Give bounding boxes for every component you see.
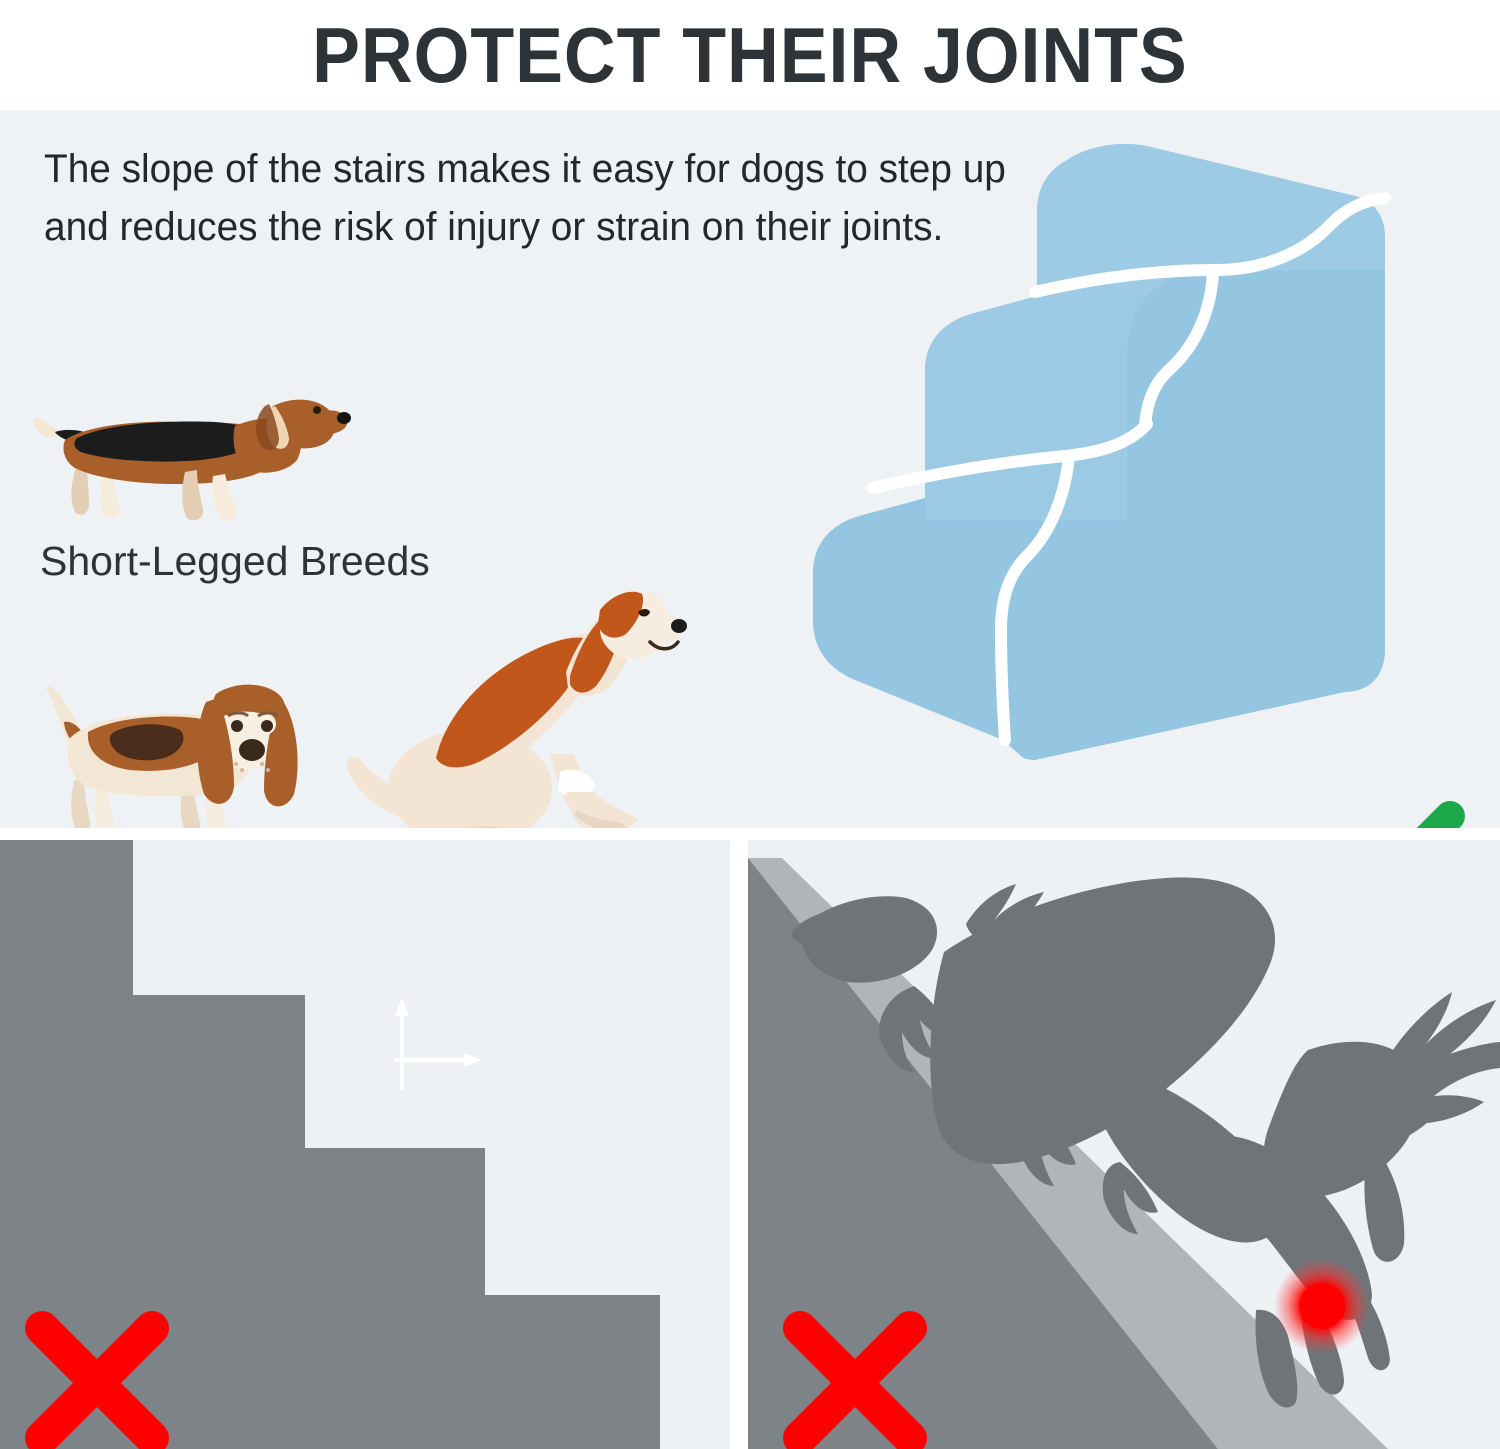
- bottom-left-panel-steep-stairs: 90°: [0, 840, 730, 1449]
- blue-pet-stairs-illustration: [735, 120, 1455, 828]
- basset-hound-dog-illustration: [30, 660, 330, 828]
- dog-label-short-legged-breeds: Short-Legged Breeds: [40, 538, 430, 585]
- header-bar: PROTECT THEIR JOINTS: [0, 0, 1500, 110]
- dachshund-dog-illustration: [25, 372, 355, 532]
- dog-jumping-down-ramp-illustration: [748, 840, 1500, 1449]
- steep-staircase-diagram: [0, 840, 730, 1449]
- top-panel: The slope of the stairs makes it easy fo…: [0, 110, 1500, 828]
- page-title: PROTECT THEIR JOINTS: [312, 16, 1188, 94]
- bottom-right-panel-dog-jumping: [748, 840, 1500, 1449]
- check-icon: [1300, 800, 1470, 828]
- injured-dog-illustration: [338, 576, 693, 828]
